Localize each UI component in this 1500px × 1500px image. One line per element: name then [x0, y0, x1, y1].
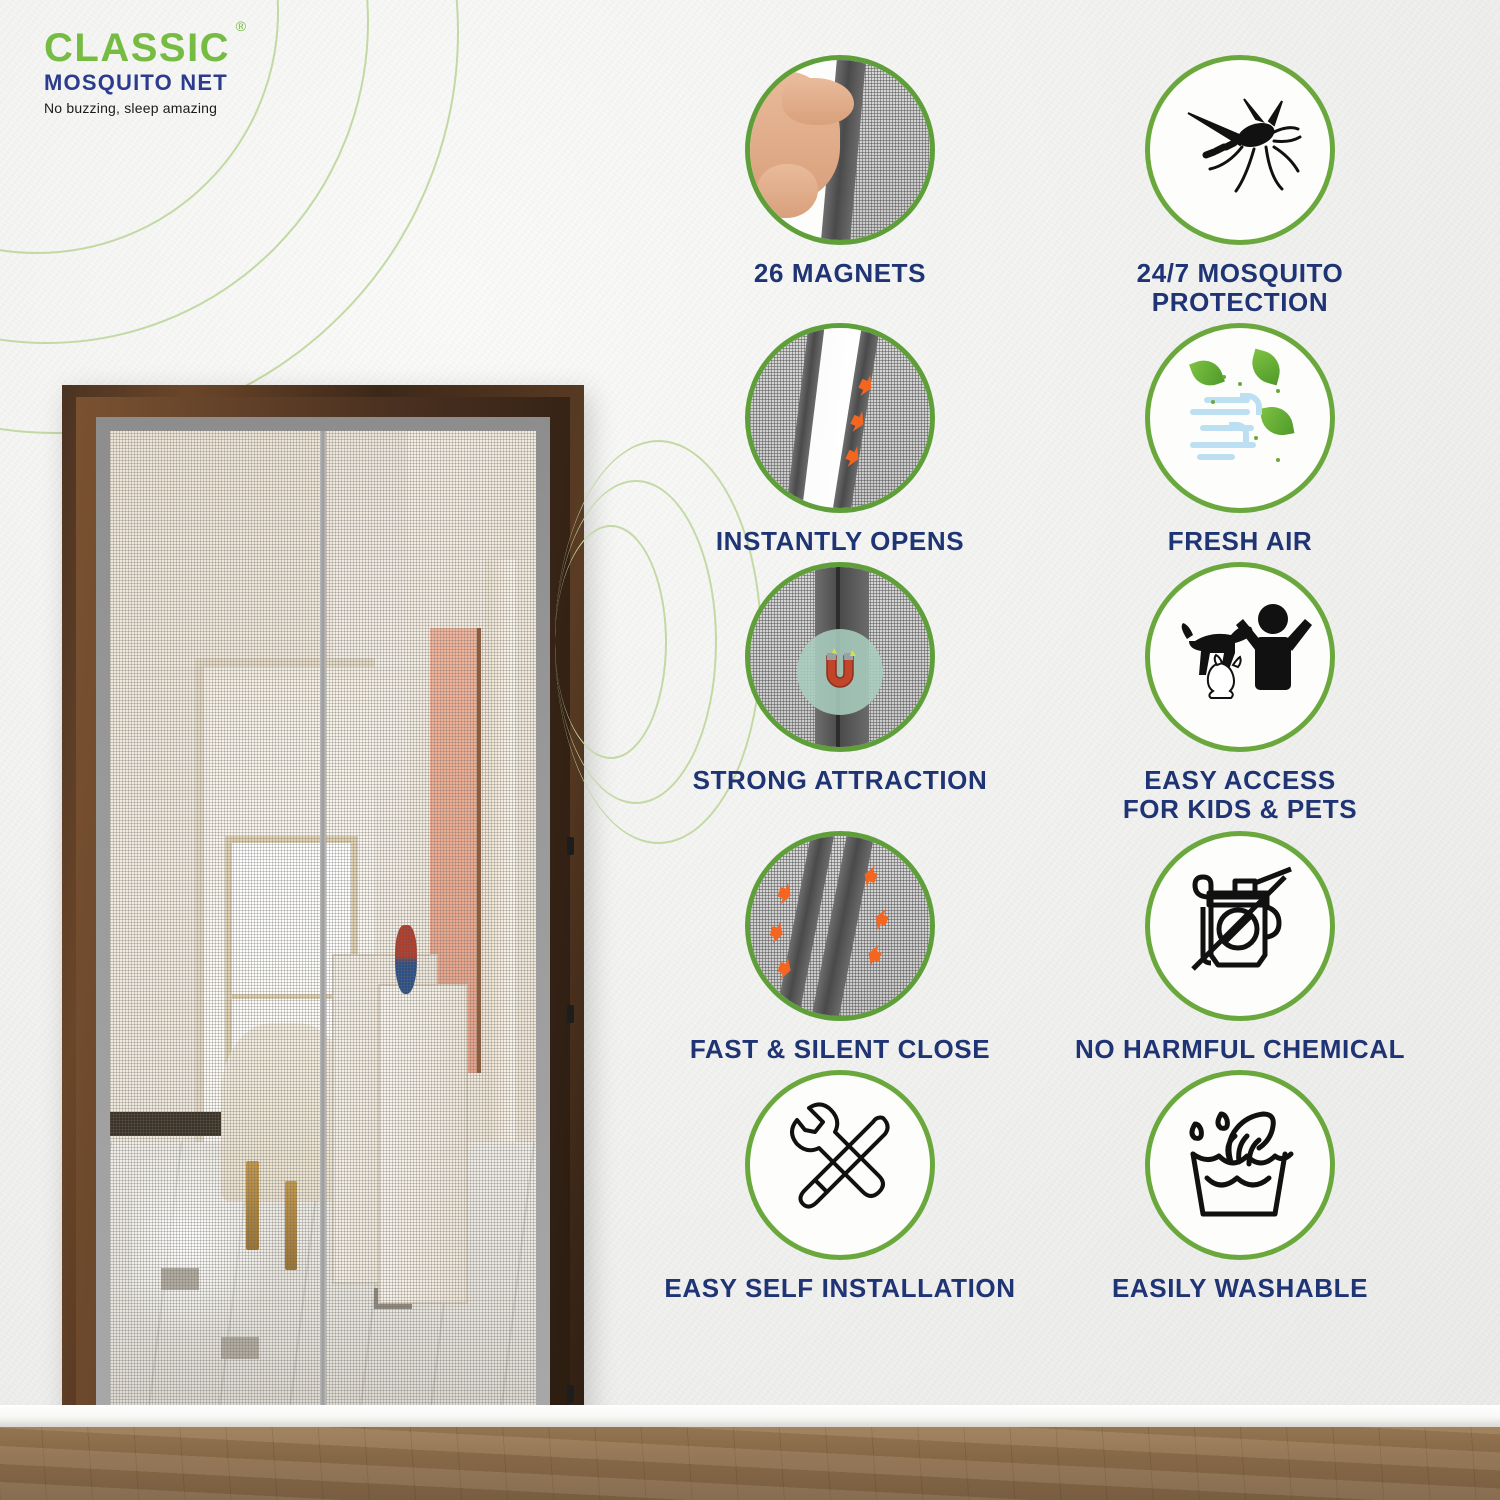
brand-tagline: No buzzing, sleep amazing — [44, 101, 230, 115]
horseshoe-magnet-on-mesh-photo — [745, 562, 935, 752]
feature-magnets: 26 MAGNETS — [640, 55, 1040, 317]
mesh-opening-arrows-photo: ➧ ➧ ➧ — [745, 323, 935, 513]
feature-label: 24/7 MOSQUITO PROTECTION — [1137, 259, 1344, 317]
product-infographic: CLASSIC ® MOSQUITO NET No buzzing, sleep… — [0, 0, 1500, 1500]
wooden-floor — [0, 1427, 1500, 1500]
feature-label: FRESH AIR — [1168, 527, 1313, 556]
leaves-and-wind-icon — [1145, 323, 1335, 513]
feature-label: EASY ACCESS FOR KIDS & PETS — [1123, 766, 1357, 824]
photo-scene: ➧ ➧ ➧ ➧ ➧ ➧ — [750, 836, 930, 1016]
photo-scene — [750, 567, 930, 747]
magnet-badge — [797, 629, 883, 715]
crossed-out-pesticide-sprayer-icon — [1145, 831, 1335, 1021]
wrench-and-screwdriver-icon — [745, 1070, 935, 1260]
brand-logo: CLASSIC ® MOSQUITO NET No buzzing, sleep… — [44, 28, 230, 115]
feature-grid: 26 MAGNETS — [640, 55, 1440, 1303]
magnet-dot-icon — [567, 837, 574, 855]
screen-frame — [96, 417, 550, 1430]
registered-mark-icon: ® — [236, 18, 246, 34]
mesh-closing-arrows-photo: ➧ ➧ ➧ ➧ ➧ ➧ — [745, 831, 935, 1021]
feature-self-install: EASY SELF INSTALLATION — [640, 1070, 1040, 1303]
feature-washable: EASILY WASHABLE — [1040, 1070, 1440, 1303]
hand-wash-basin-icon — [1145, 1070, 1335, 1260]
magnet-dot-icon — [567, 1005, 574, 1023]
feature-label: EASILY WASHABLE — [1112, 1274, 1368, 1303]
feature-label: 26 MAGNETS — [754, 259, 926, 288]
mosquito-icon — [1145, 55, 1335, 245]
feature-silent-close: ➧ ➧ ➧ ➧ ➧ ➧ FAST & SILENT CLOSE — [640, 831, 1040, 1064]
hand-pinching-mesh-edge-photo — [745, 55, 935, 245]
feature-instant-open: ➧ ➧ ➧ INSTANTLY OPENS — [640, 323, 1040, 556]
brand-product-line: MOSQUITO NET — [44, 72, 230, 94]
photo-scene: ➧ ➧ ➧ — [750, 328, 930, 508]
feature-no-chemical: NO HARMFUL CHEMICAL — [1040, 831, 1440, 1064]
wall-baseboard — [0, 1405, 1500, 1427]
feature-label: STRONG ATTRACTION — [693, 766, 988, 795]
child-and-dog-icon — [1145, 562, 1335, 752]
photo-scene — [750, 60, 930, 240]
brand-name: CLASSIC — [44, 28, 230, 68]
feature-label: INSTANTLY OPENS — [716, 527, 964, 556]
feature-easy-access: EASY ACCESS FOR KIDS & PETS — [1040, 562, 1440, 824]
feature-label: EASY SELF INSTALLATION — [664, 1274, 1015, 1303]
feature-fresh-air: FRESH AIR — [1040, 323, 1440, 556]
feature-protection: 24/7 MOSQUITO PROTECTION — [1040, 55, 1440, 317]
magnet-dot-icon — [567, 1385, 574, 1403]
mesh-center-seam — [320, 431, 326, 1418]
feature-label: NO HARMFUL CHEMICAL — [1075, 1035, 1405, 1064]
feature-attraction: STRONG ATTRACTION — [640, 562, 1040, 824]
product-photo-door — [62, 385, 584, 1430]
icon-scene — [1150, 328, 1330, 508]
feature-label: FAST & SILENT CLOSE — [690, 1035, 990, 1064]
mosquito-mesh-screen — [110, 431, 536, 1418]
